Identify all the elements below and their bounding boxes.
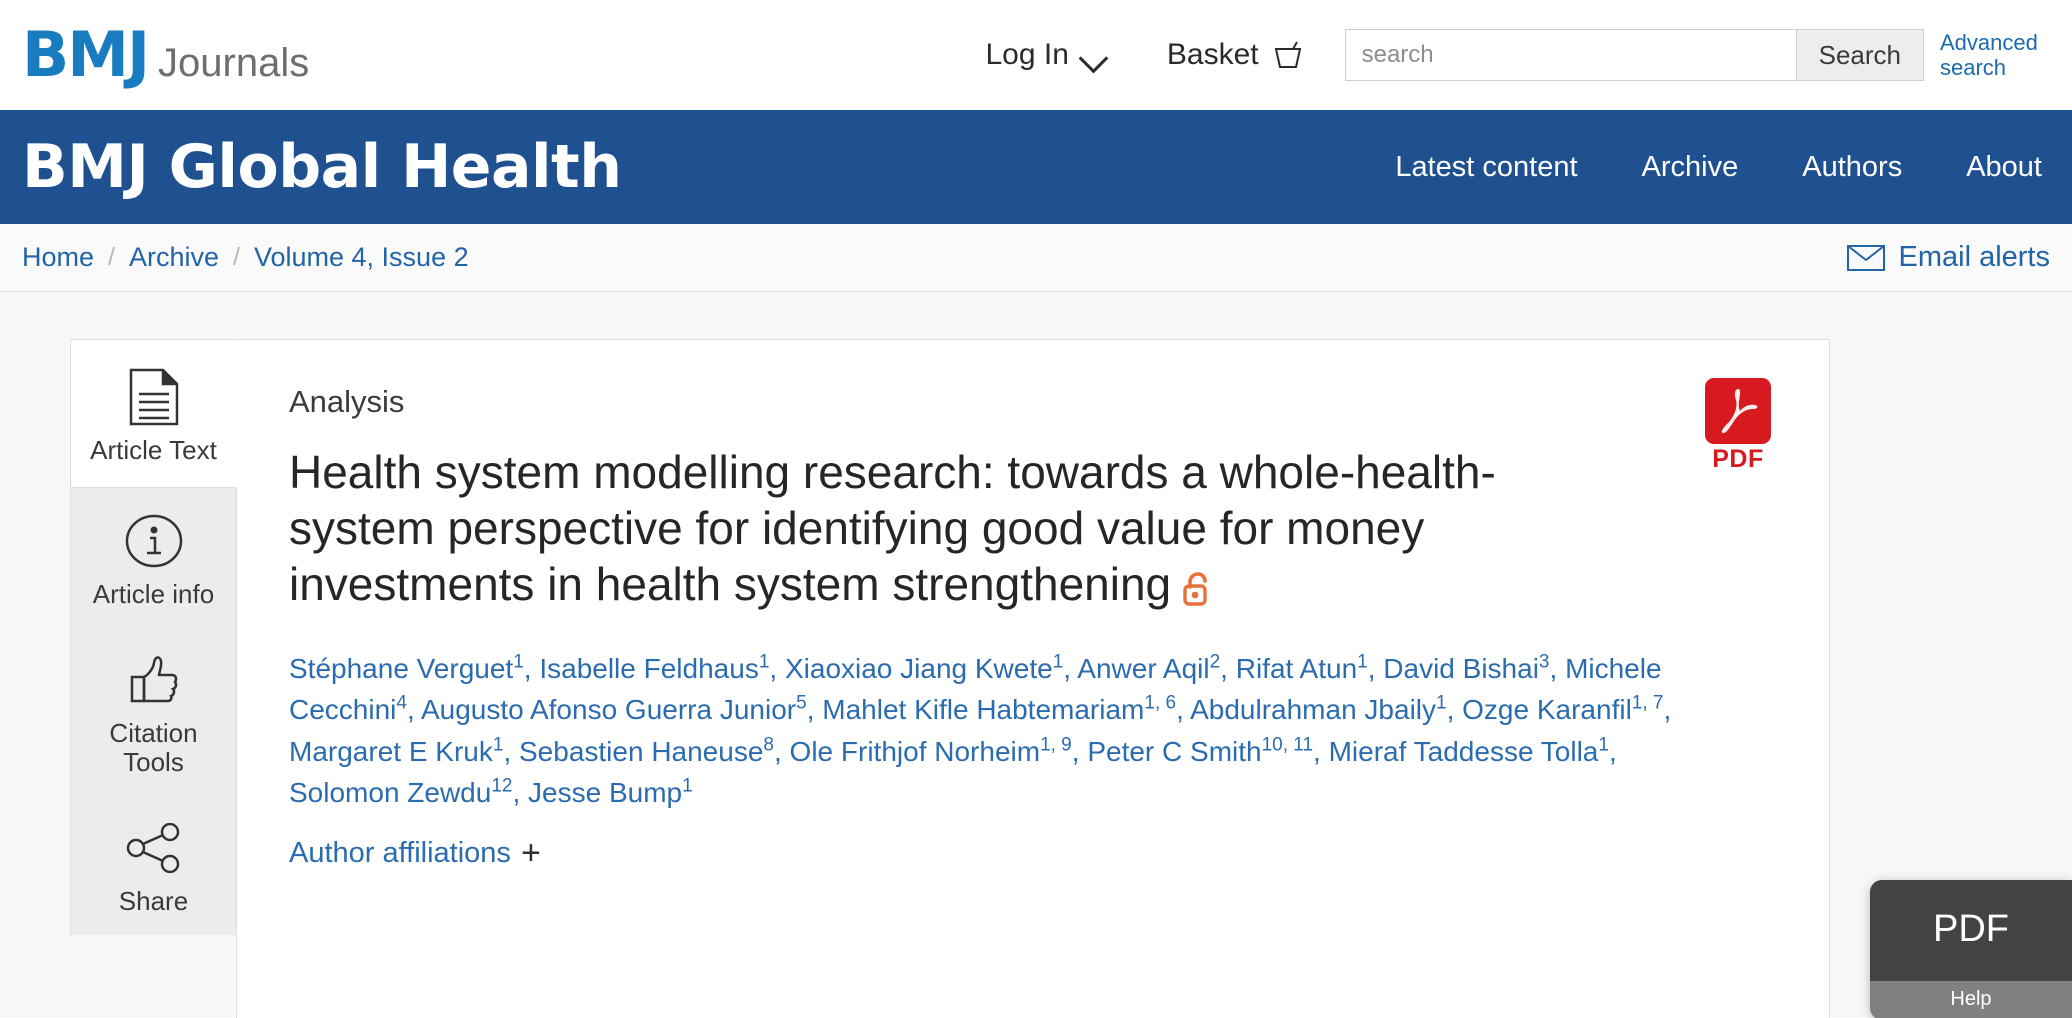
pdf-icon xyxy=(1705,378,1771,444)
sidebar-item-label: Citation Tools xyxy=(77,719,230,777)
author-affiliation-sup: 1 xyxy=(1436,693,1447,714)
journal-nav: Latest content Archive Authors About xyxy=(1395,151,2042,184)
author-affiliation-sup: 1 xyxy=(493,734,504,755)
pdf-help-overlay: PDF Help xyxy=(1870,880,2072,1018)
author-affiliation-sup: 12 xyxy=(491,775,512,796)
author-affiliations-toggle[interactable]: Author affiliations + xyxy=(289,837,541,870)
sidebar-item-citation-tools[interactable]: Citation Tools xyxy=(70,627,237,795)
author-affiliation-sup: 3 xyxy=(1539,652,1550,673)
nav-latest-content[interactable]: Latest content xyxy=(1395,151,1577,184)
author-name[interactable]: Augusto Afonso Guerra Junior xyxy=(421,694,796,725)
login-label: Log In xyxy=(985,38,1068,72)
nav-about[interactable]: About xyxy=(1966,151,2042,184)
journal-banner: BMJ Global Health Latest content Archive… xyxy=(0,110,2072,224)
article-card: PDF Analysis Health system modelling res… xyxy=(236,339,1830,1018)
top-utility-bar: BMJ Journals Log In Basket Search Advanc… xyxy=(0,0,2072,110)
pdf-overlay-button[interactable]: PDF xyxy=(1870,880,2072,981)
author-name[interactable]: Isabelle Feldhaus xyxy=(539,653,758,684)
author-name[interactable]: Rifat Atun xyxy=(1236,653,1357,684)
share-nodes-icon xyxy=(77,817,230,879)
author-affiliation-sup: 1, 9 xyxy=(1040,734,1072,755)
author-affiliation-sup: 1 xyxy=(1357,652,1368,673)
basket-button[interactable]: Basket xyxy=(1167,38,1303,72)
sidebar-item-article-text[interactable]: Article Text xyxy=(70,339,237,488)
author-name[interactable]: Xiaoxiao Jiang Kwete xyxy=(785,653,1053,684)
article-title-text: Health system modelling research: toward… xyxy=(289,446,1496,610)
search-form: Search xyxy=(1345,29,1924,81)
author-affiliation-sup: 8 xyxy=(763,734,774,755)
page-title: Health system modelling research: toward… xyxy=(289,444,1579,618)
author-name[interactable]: Mieraf Taddesse Tolla xyxy=(1329,736,1599,767)
login-menu[interactable]: Log In xyxy=(985,38,1106,72)
breadcrumb-item-archive[interactable]: Archive xyxy=(129,242,219,273)
bmj-logo-mark: BMJ xyxy=(22,24,148,86)
author-name[interactable]: Peter C Smith xyxy=(1087,736,1261,767)
sidebar-item-label: Share xyxy=(77,887,230,916)
author-name[interactable]: Mahlet Kifle Habtemariam xyxy=(822,694,1144,725)
open-access-lock-icon xyxy=(1183,562,1209,618)
author-name[interactable]: Abdulrahman Jbaily xyxy=(1190,694,1436,725)
author-affiliation-sup: 1 xyxy=(682,775,693,796)
pdf-download-button[interactable]: PDF xyxy=(1695,378,1781,474)
author-name[interactable]: Ole Frithjof Norheim xyxy=(790,736,1041,767)
author-affiliation-sup: 10, 11 xyxy=(1262,734,1313,755)
envelope-icon xyxy=(1847,245,1885,271)
author-affiliation-sup: 1 xyxy=(513,652,524,673)
advanced-search-link[interactable]: Advanced search xyxy=(1940,30,2050,81)
thumbs-up-icon xyxy=(77,649,230,711)
author-affiliation-sup: 1, 6 xyxy=(1144,693,1176,714)
bmj-journals-logo[interactable]: BMJ Journals xyxy=(22,24,309,86)
author-name[interactable]: Anwer Aqil xyxy=(1077,653,1209,684)
basket-icon xyxy=(1273,41,1303,69)
search-input[interactable] xyxy=(1346,30,1796,80)
article-shell: Article Text Article info xyxy=(70,339,1830,1018)
author-name[interactable]: Sebastien Haneuse xyxy=(519,736,763,767)
email-alerts-link[interactable]: Email alerts xyxy=(1847,241,2051,274)
info-circle-icon xyxy=(77,510,230,572)
author-affiliation-sup: 1, 7 xyxy=(1632,693,1664,714)
article-tab-rail: Article Text Article info xyxy=(70,339,237,935)
breadcrumb: Home / Archive / Volume 4, Issue 2 xyxy=(22,242,469,273)
plus-icon: + xyxy=(521,840,541,867)
author-affiliation-sup: 5 xyxy=(796,693,807,714)
author-affiliations-label: Author affiliations xyxy=(289,837,511,870)
sidebar-item-label: Article info xyxy=(77,580,230,609)
author-affiliation-sup: 1 xyxy=(759,652,770,673)
breadcrumb-item-home[interactable]: Home xyxy=(22,242,94,273)
author-name[interactable]: Jesse Bump xyxy=(528,777,682,808)
author-name[interactable]: Margaret E Kruk xyxy=(289,736,493,767)
breadcrumb-separator: / xyxy=(233,243,240,272)
bmj-logo-word: Journals xyxy=(158,43,309,83)
document-icon xyxy=(77,366,230,428)
breadcrumb-separator: / xyxy=(108,243,115,272)
article-type-label: Analysis xyxy=(289,384,1777,420)
sidebar-item-article-info[interactable]: Article info xyxy=(70,488,237,627)
author-name[interactable]: Ozge Karanfil xyxy=(1462,694,1632,725)
sidebar-item-share[interactable]: Share xyxy=(70,795,237,934)
basket-label: Basket xyxy=(1167,38,1259,72)
nav-archive[interactable]: Archive xyxy=(1642,151,1739,184)
author-name[interactable]: David Bishai xyxy=(1383,653,1539,684)
pdf-overlay-help-button[interactable]: Help xyxy=(1870,981,2072,1018)
author-name[interactable]: Solomon Zewdu xyxy=(289,777,491,808)
search-button[interactable]: Search xyxy=(1796,30,1923,80)
journal-title: BMJ Global Health xyxy=(22,132,621,202)
pdf-label: PDF xyxy=(1695,445,1781,474)
author-affiliation-sup: 4 xyxy=(396,693,407,714)
breadcrumb-bar: Home / Archive / Volume 4, Issue 2 Email… xyxy=(0,224,2072,292)
top-bar-right: Log In Basket Search Advanced search xyxy=(985,29,2050,81)
page-body: Article Text Article info xyxy=(0,292,2072,1017)
sidebar-item-label: Article Text xyxy=(77,436,230,465)
author-name[interactable]: Stéphane Verguet xyxy=(289,653,513,684)
author-affiliation-sup: 1 xyxy=(1598,734,1609,755)
author-affiliation-sup: 2 xyxy=(1210,652,1221,673)
author-affiliation-sup: 1 xyxy=(1053,652,1064,673)
chevron-down-icon xyxy=(1081,48,1107,62)
author-list: Stéphane Verguet1, Isabelle Feldhaus1, X… xyxy=(289,648,1689,813)
nav-authors[interactable]: Authors xyxy=(1802,151,1902,184)
email-alerts-label: Email alerts xyxy=(1899,241,2051,274)
breadcrumb-item-issue[interactable]: Volume 4, Issue 2 xyxy=(254,242,469,273)
